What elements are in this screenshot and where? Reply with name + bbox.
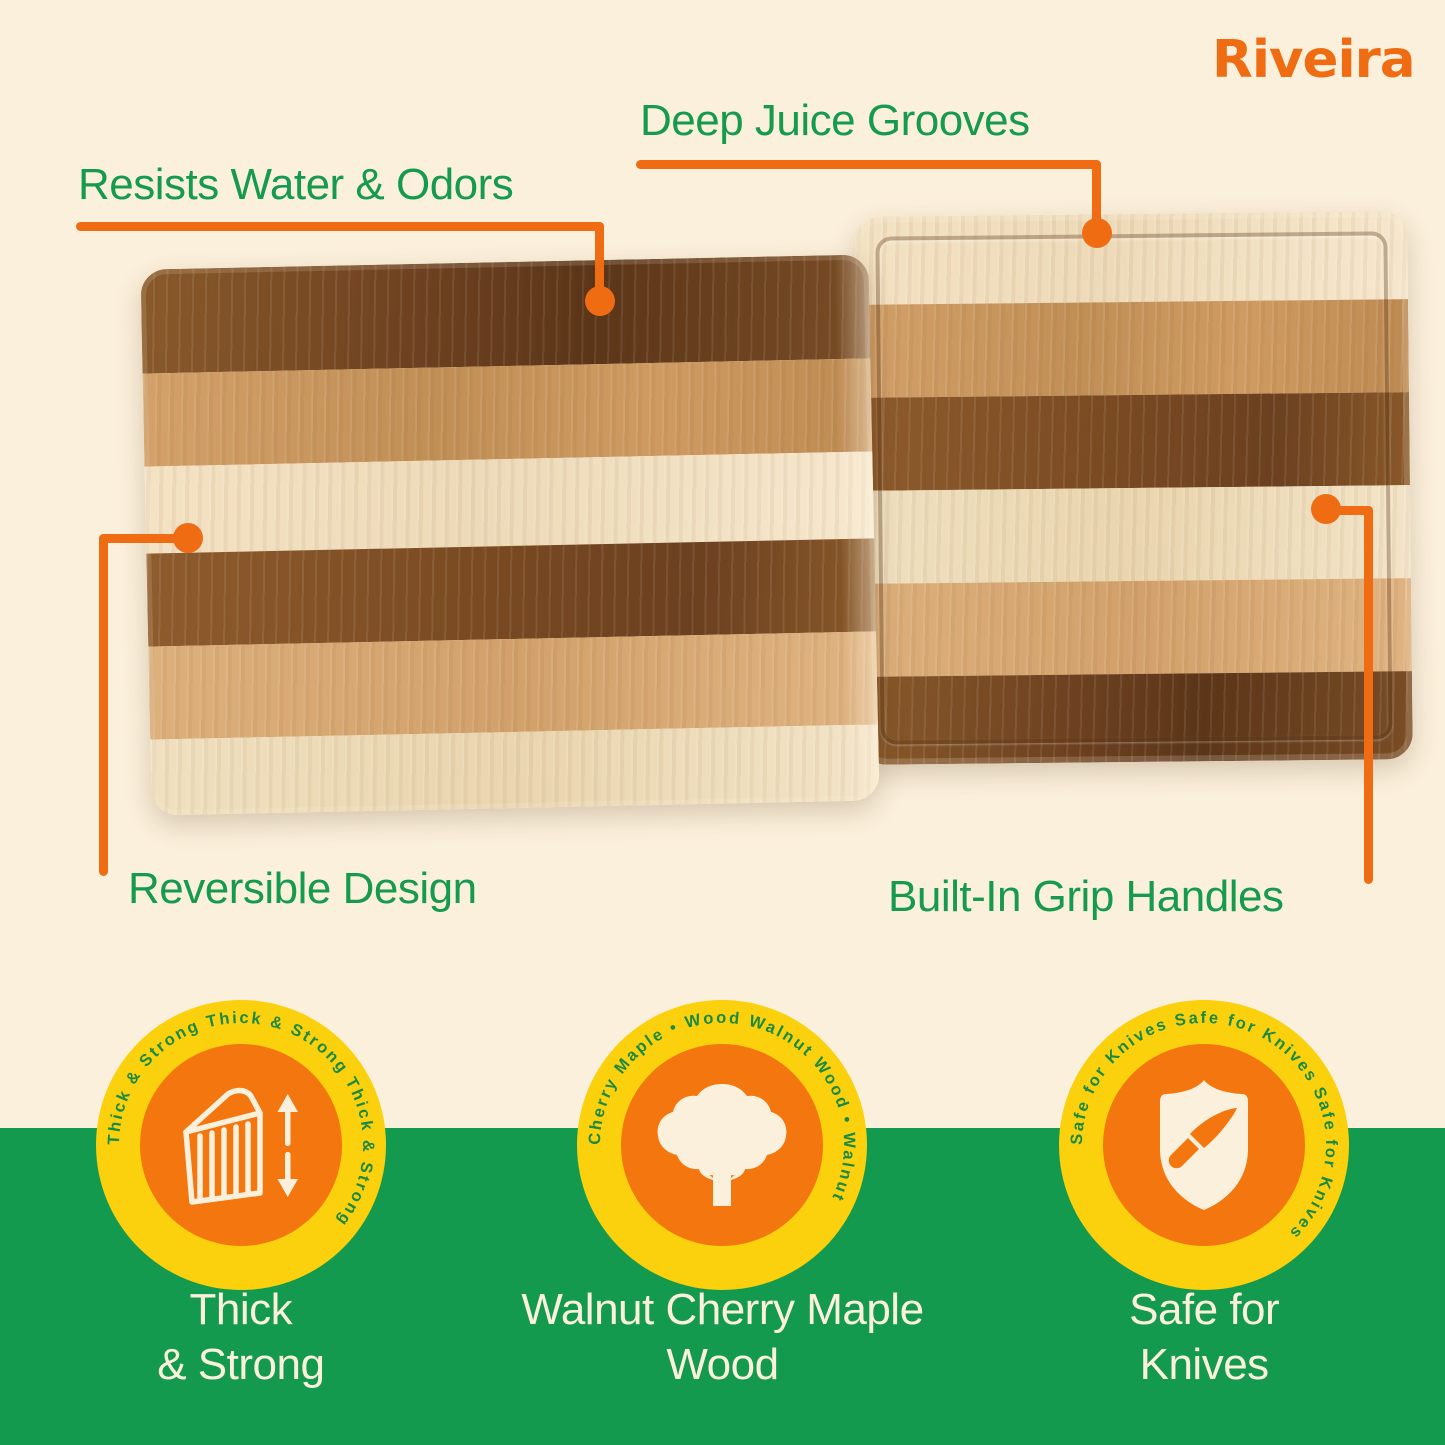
badge-inner-circle	[1103, 1044, 1305, 1246]
callout-deep-juice-grooves: Deep Juice Grooves	[640, 96, 1030, 146]
badge-inner-circle	[140, 1044, 342, 1246]
callout-reversible-design: Reversible Design	[128, 864, 477, 914]
cutting-board-front	[140, 254, 879, 815]
connector-grooves-dot	[1082, 218, 1112, 248]
connector-handles-dot	[1311, 494, 1341, 524]
caption-row: Thick & Strong Walnut Cherry Maple Wood …	[0, 1282, 1445, 1393]
connector-resists-horizontal	[76, 222, 604, 231]
caption-line-2: Wood	[507, 1337, 937, 1392]
badge-wood-types: Cherry Maple • Wood Walnut Wood • Walnut	[577, 1000, 867, 1290]
caption-line-1: Walnut Cherry Maple	[507, 1282, 937, 1337]
caption-line-1: Thick	[26, 1282, 456, 1337]
connector-reversible-vertical	[99, 534, 108, 876]
caption-safe-for-knives: Safe for Knives	[989, 1282, 1419, 1393]
callout-built-in-grip-handles: Built-In Grip Handles	[888, 872, 1283, 922]
badge-row: Thick & Strong Thick & Strong Thick & St…	[0, 995, 1445, 1295]
tree-icon	[647, 1070, 797, 1220]
connector-resists-dot	[585, 286, 615, 316]
infographic-stage: Riveira De	[0, 0, 1445, 1445]
caption-thick-strong: Thick & Strong	[26, 1282, 456, 1393]
caption-line-2: Knives	[989, 1337, 1419, 1392]
board-thickness-icon	[166, 1080, 316, 1210]
badge-safe-for-knives: Safe for Knives Safe for Knives Safe for…	[1059, 1000, 1349, 1290]
double-arrow-icon	[277, 1094, 298, 1197]
connector-grooves-horizontal	[636, 160, 1101, 169]
caption-line-1: Safe for	[989, 1282, 1419, 1337]
board-front-edge-highlight	[140, 254, 879, 815]
caption-line-2: & Strong	[26, 1337, 456, 1392]
badge-thick-strong: Thick & Strong Thick & Strong Thick & St…	[96, 1000, 386, 1290]
board-back-edge-highlight	[855, 211, 1413, 765]
brand-logo: Riveira	[1212, 30, 1415, 90]
caption-wood-types: Walnut Cherry Maple Wood	[507, 1282, 937, 1393]
connector-handles-vertical	[1364, 506, 1373, 884]
cutting-board-back	[855, 211, 1413, 765]
connector-reversible-dot	[173, 523, 203, 553]
shield-knife-icon	[1134, 1070, 1274, 1220]
badge-inner-circle	[621, 1044, 823, 1246]
callout-resists-water-odors: Resists Water & Odors	[78, 160, 513, 210]
